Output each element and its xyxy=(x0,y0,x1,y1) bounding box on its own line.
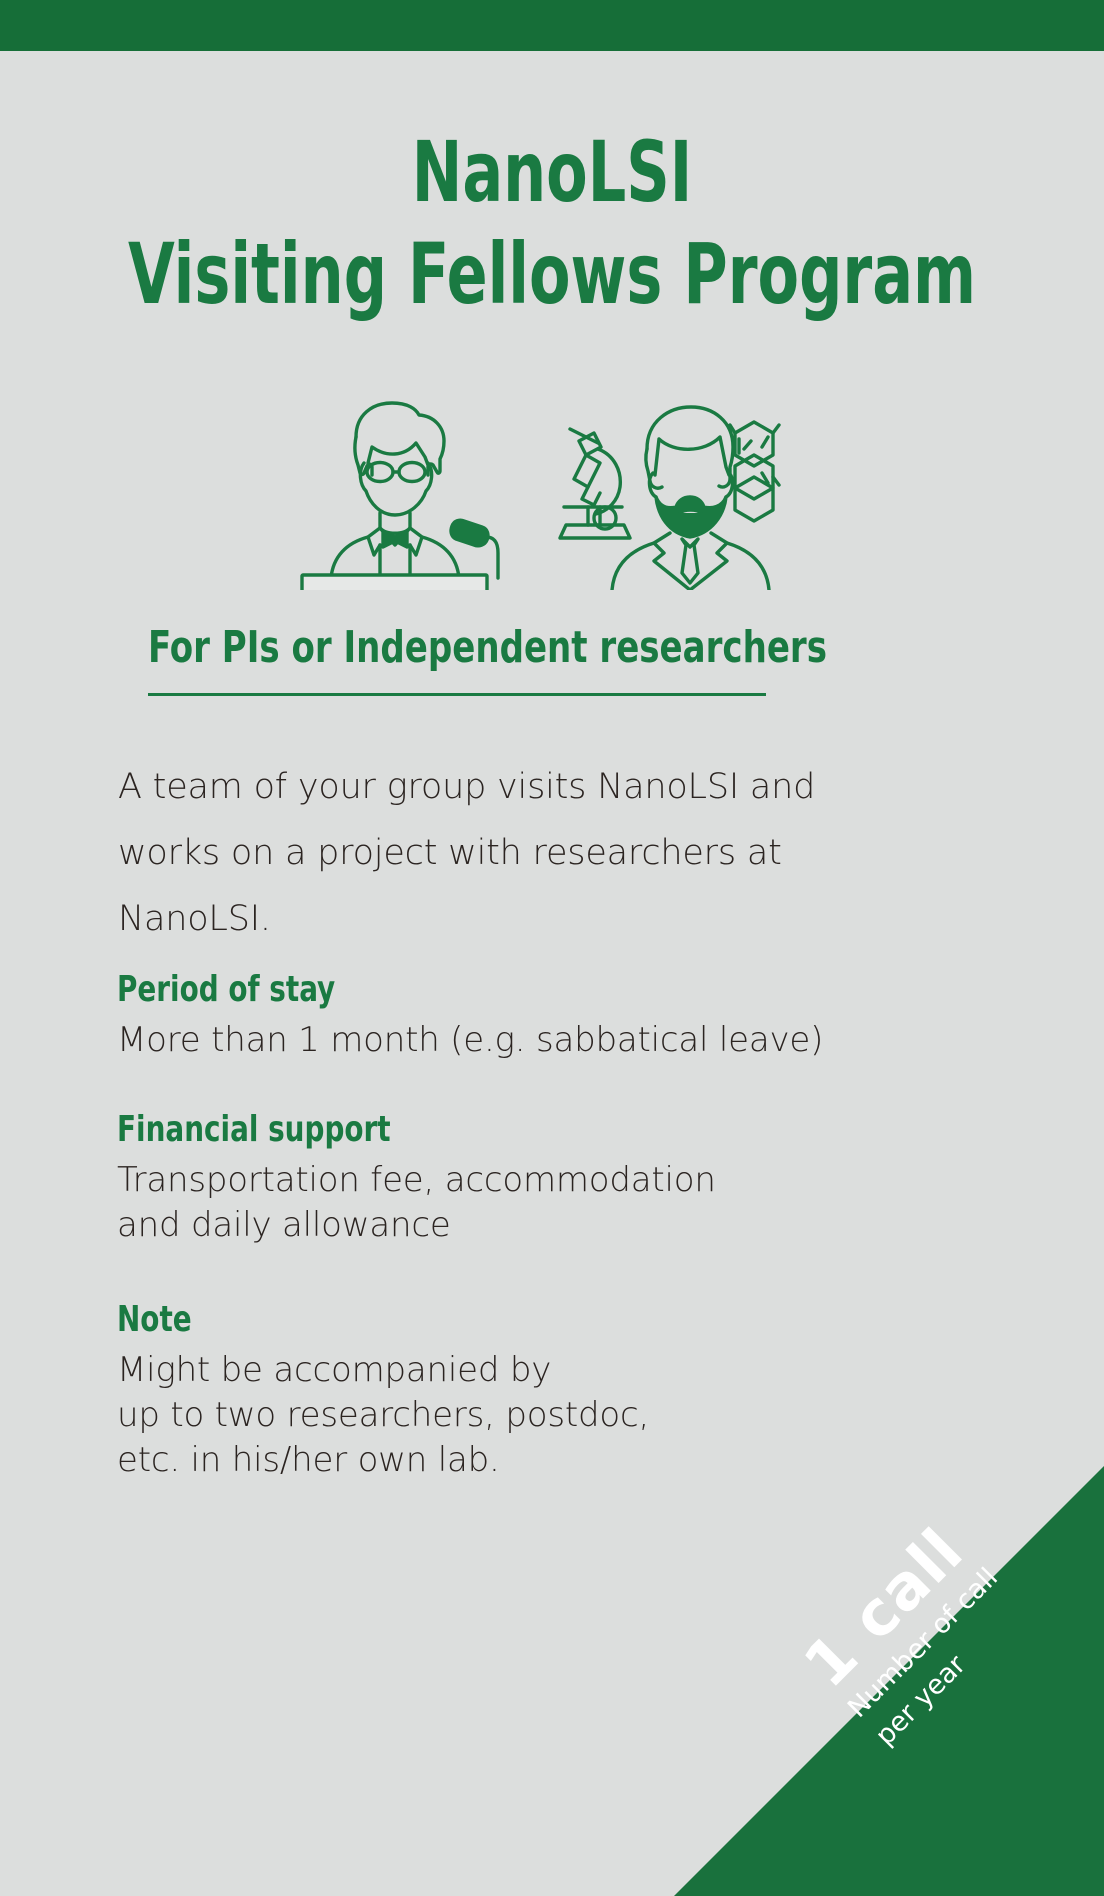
subheading-divider xyxy=(148,693,766,696)
title-block: NanoLSI Visiting Fellows Program xyxy=(0,130,1104,316)
section-line: up to two researchers, postdoc, xyxy=(117,1393,947,1438)
section-label: Note xyxy=(117,1300,831,1340)
illustration-group xyxy=(0,385,1104,590)
page-title-line1: NanoLSI xyxy=(110,130,993,214)
section-financial-support: Financial support Transportation fee, ac… xyxy=(117,1110,947,1248)
hexagon-molecule-icon xyxy=(730,422,779,521)
intro-paragraph: A team of your group visits NanoLSI and … xyxy=(118,755,848,952)
subheading-block: For PIs or Independent researchers xyxy=(148,625,768,696)
poster-page: NanoLSI Visiting Fellows Program xyxy=(0,0,1104,1896)
person-at-podium-with-microphone-icon xyxy=(302,403,498,590)
section-label: Financial support xyxy=(117,1110,831,1150)
top-green-bar xyxy=(0,0,1104,51)
section-label: Period of stay xyxy=(117,970,831,1010)
subheading-text: For PIs or Independent researchers xyxy=(148,625,681,671)
corner-ribbon: 1 call Number of call per year xyxy=(674,1466,1104,1896)
page-title-line2: Visiting Fellows Program xyxy=(110,232,993,316)
section-body: Might be accompanied by up to two resear… xyxy=(117,1348,947,1484)
section-body: More than 1 month (e.g. sabbatical leave… xyxy=(117,1018,947,1063)
section-body: Transportation fee, accommodation and da… xyxy=(117,1158,947,1248)
section-line: Transportation fee, accommodation xyxy=(117,1158,947,1203)
section-period-of-stay: Period of stay More than 1 month (e.g. s… xyxy=(117,970,947,1063)
section-line: Might be accompanied by xyxy=(117,1348,947,1393)
bearded-scientist-in-lab-coat-icon xyxy=(612,407,769,590)
section-line: and daily allowance xyxy=(117,1203,947,1248)
section-line: More than 1 month (e.g. sabbatical leave… xyxy=(117,1018,947,1063)
section-note: Note Might be accompanied by up to two r… xyxy=(117,1300,947,1483)
microscope-icon xyxy=(560,429,630,538)
